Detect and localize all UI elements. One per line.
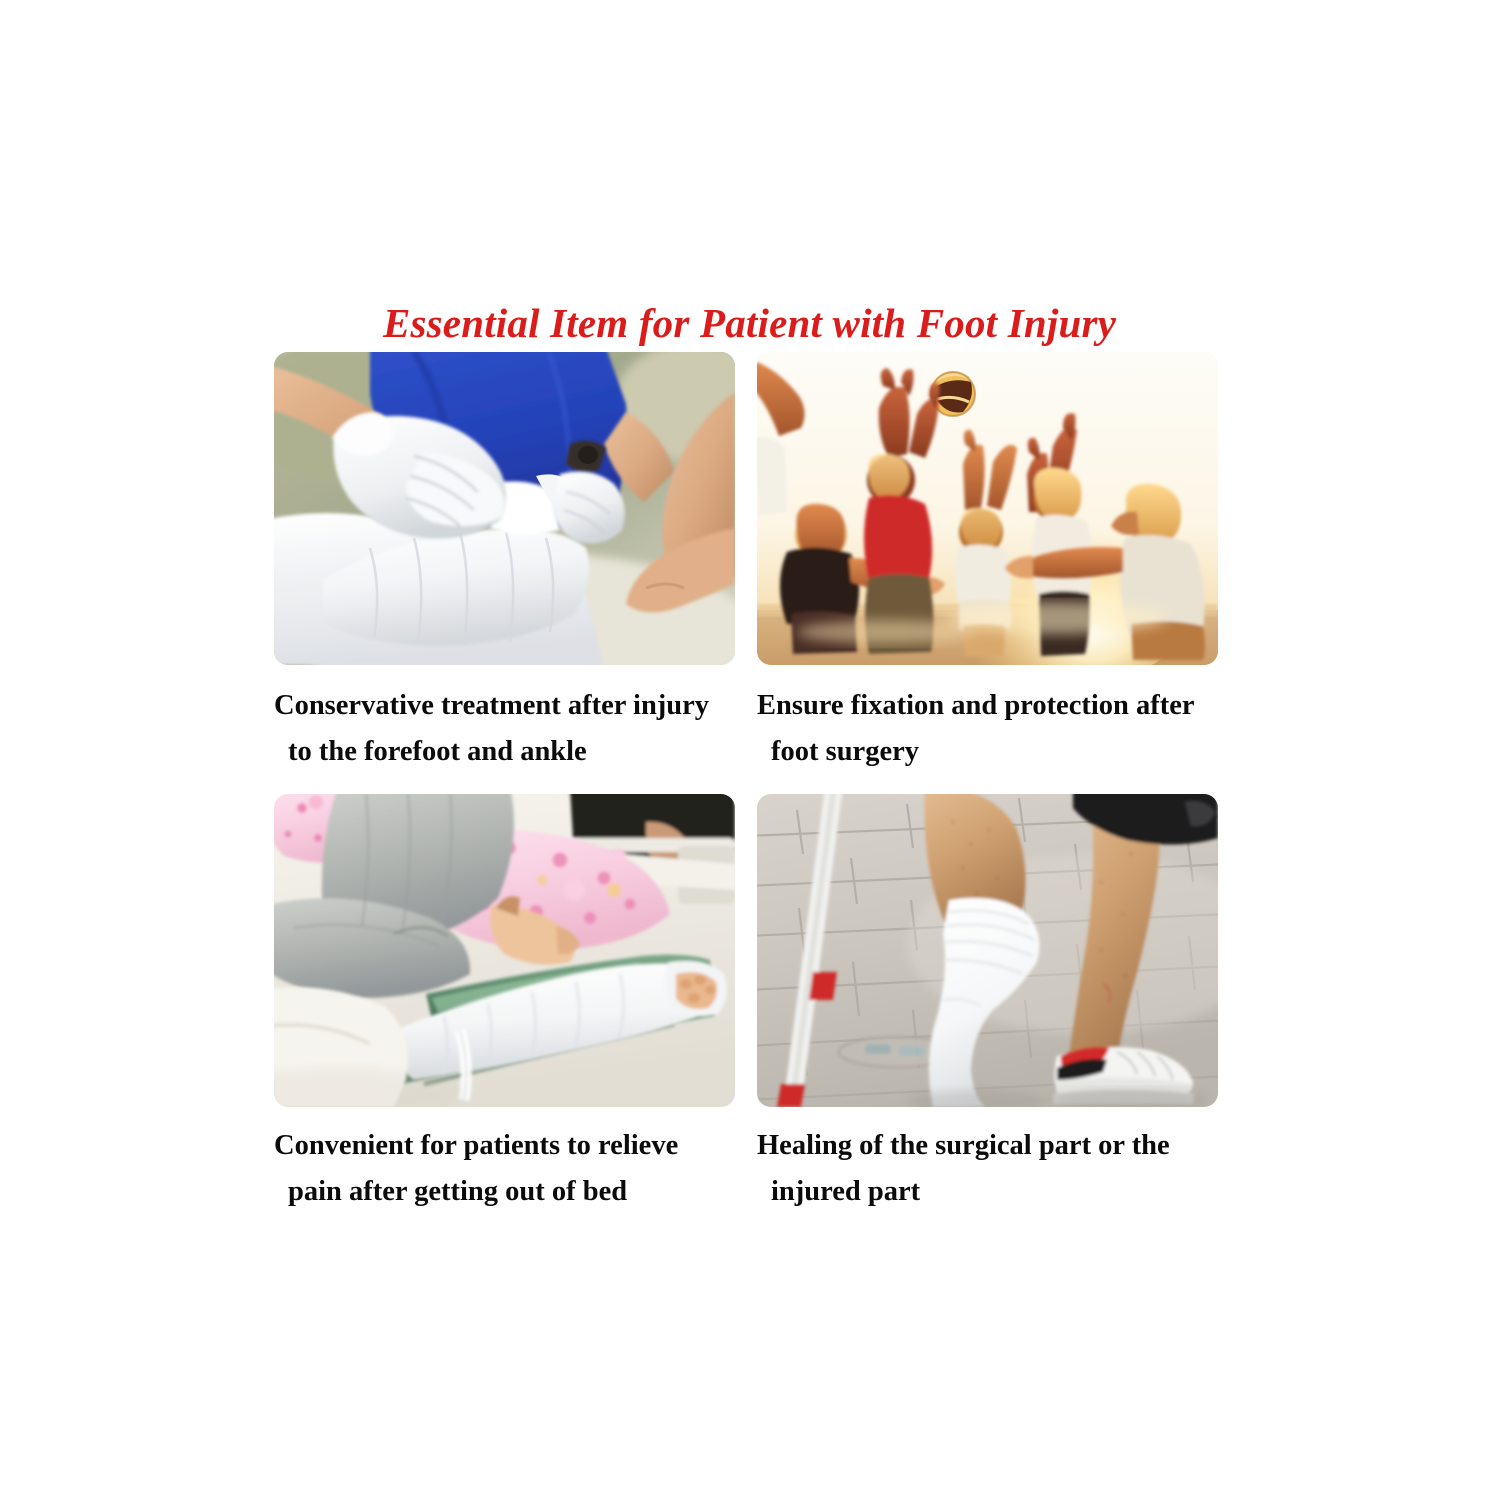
feature-row-2: Convenient for patients to relieve pain … <box>274 794 1218 1215</box>
walking-with-crutch-bandaged-foot-photo <box>757 794 1218 1107</box>
feature-card-3: Convenient for patients to relieve pain … <box>274 794 735 1215</box>
feature-grid: Conservative treatment after injury to t… <box>274 352 1218 1216</box>
feature-card-2: Ensure fixation and protection after foo… <box>757 352 1218 775</box>
feature-caption-1: Conservative treatment after injury to t… <box>274 683 735 775</box>
caption-line-2: injured part <box>757 1169 1218 1215</box>
caption-line-1: Convenient for patients to relieve <box>274 1123 735 1169</box>
feature-row-1: Conservative treatment after injury to t… <box>274 352 1218 775</box>
feature-card-4: Healing of the surgical part or the inju… <box>757 794 1218 1215</box>
feature-caption-3: Convenient for patients to relieve pain … <box>274 1123 735 1215</box>
clinician-bandaging-ankle-photo <box>274 352 735 665</box>
product-infographic-page: Essential Item for Patient with Foot Inj… <box>0 0 1499 1499</box>
caption-line-1: Ensure fixation and protection after <box>757 683 1218 729</box>
page-title: Essential Item for Patient with Foot Inj… <box>0 299 1499 347</box>
feature-card-1: Conservative treatment after injury to t… <box>274 352 735 775</box>
patient-leg-cast-hospital-bed-photo <box>274 794 735 1107</box>
caption-line-2: foot surgery <box>757 729 1218 775</box>
caption-line-2: pain after getting out of bed <box>274 1169 735 1215</box>
caption-line-2: to the forefoot and ankle <box>274 729 735 775</box>
caption-line-1: Healing of the surgical part or the <box>757 1123 1218 1169</box>
beach-volleyball-sunset-photo <box>757 352 1218 665</box>
feature-caption-2: Ensure fixation and protection after foo… <box>757 683 1218 775</box>
feature-caption-4: Healing of the surgical part or the inju… <box>757 1123 1218 1215</box>
caption-line-1: Conservative treatment after injury <box>274 683 735 729</box>
